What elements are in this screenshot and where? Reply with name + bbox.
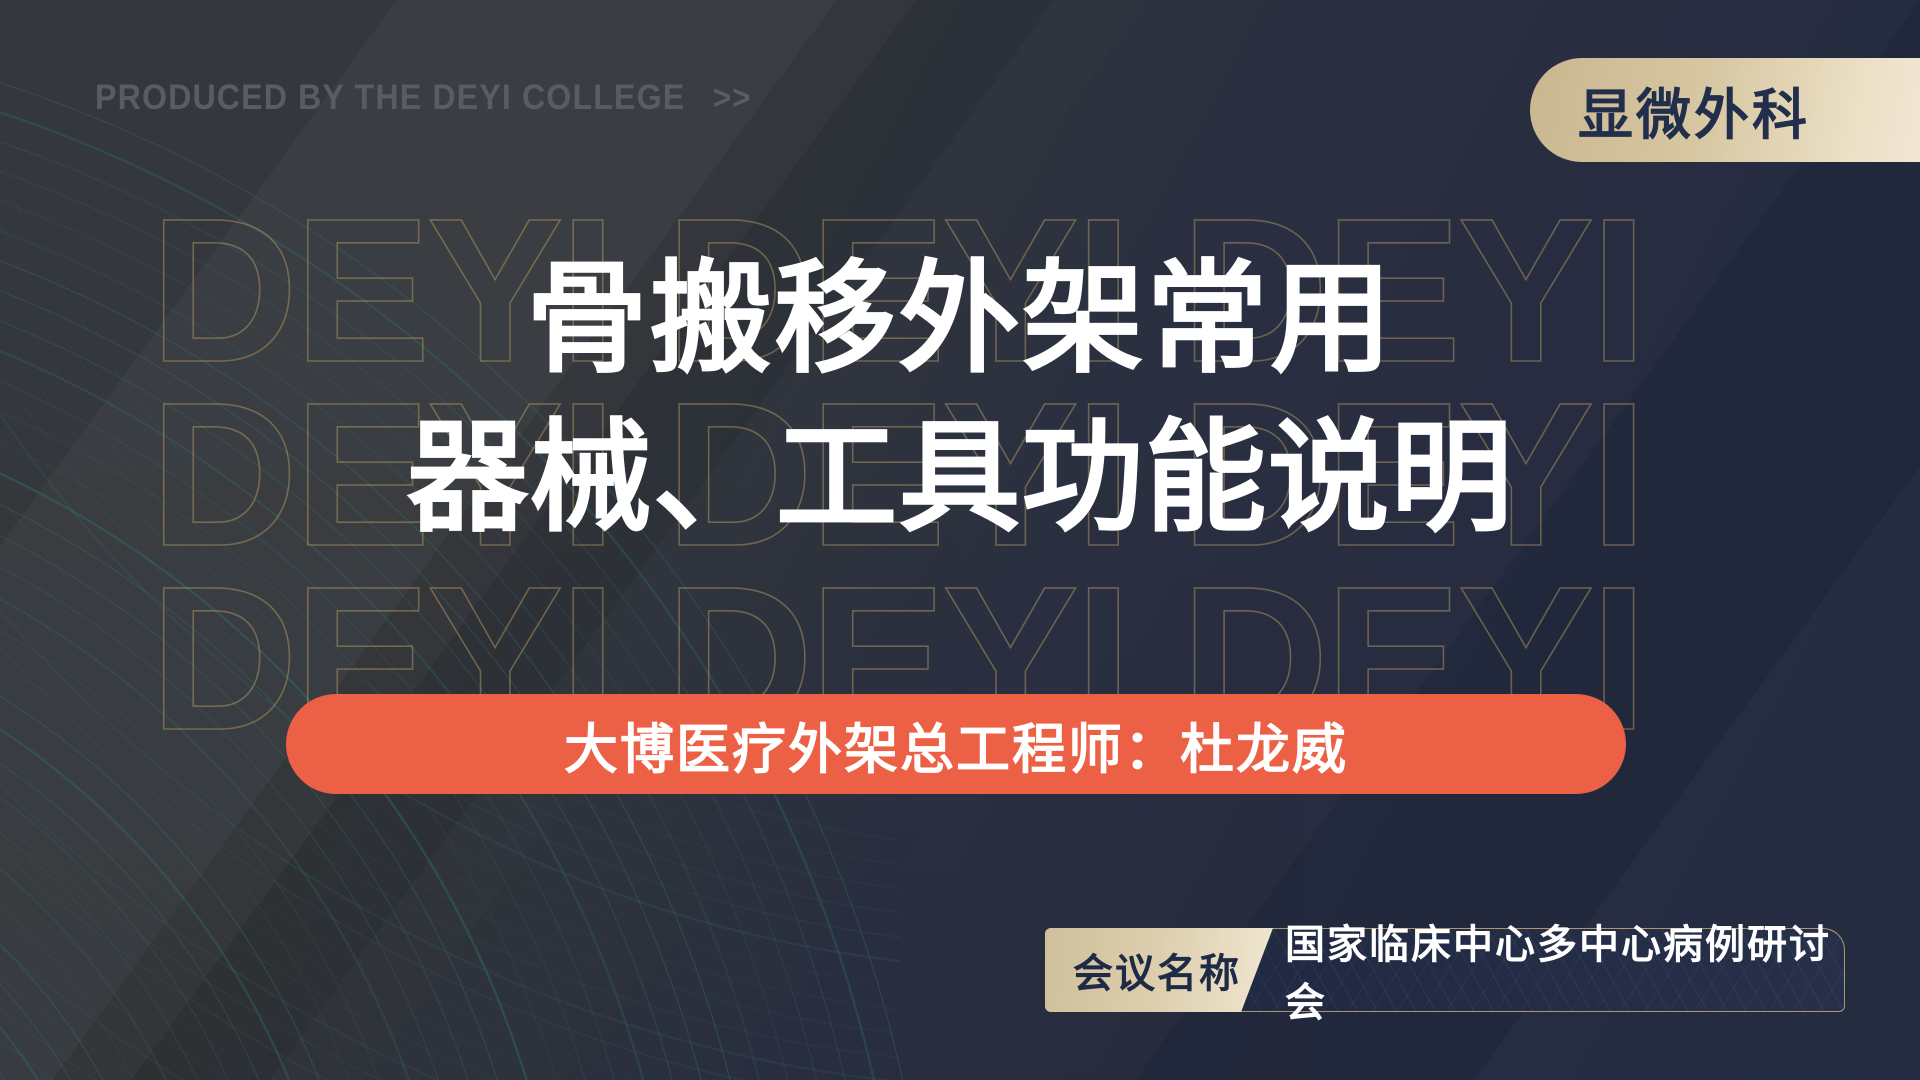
speaker-pill-label: 大博医疗外架总工程师：杜龙威 bbox=[564, 705, 1348, 784]
producer-kicker-text: PRODUCED BY THE DEYI COLLEGE bbox=[95, 78, 685, 118]
speaker-pill: 大博医疗外架总工程师：杜龙威 bbox=[286, 694, 1626, 794]
meeting-ribbon-value-text: 国家临床中心多中心病例研讨会 bbox=[1285, 912, 1845, 1028]
meeting-ribbon-value: 国家临床中心多中心病例研讨会 bbox=[1285, 928, 1845, 1012]
meeting-ribbon-label: 会议名称 bbox=[1045, 928, 1273, 1012]
page-title-line-2: 器械、工具功能说明 bbox=[0, 399, 1920, 558]
slide-canvas: DEYI DEYI DEYI DEYI DEYI DEYI DEYI DEYI … bbox=[0, 0, 1920, 1080]
meeting-ribbon: 会议名称 国家临床中心多中心病例研讨会 bbox=[1045, 928, 1845, 1012]
department-badge-label: 显微外科 bbox=[1578, 70, 1810, 150]
meeting-ribbon-label-text: 会议名称 bbox=[1073, 941, 1241, 999]
producer-kicker: PRODUCED BY THE DEYI COLLEGE >> bbox=[95, 78, 752, 118]
page-title-line-1: 骨搬移外架常用 bbox=[0, 240, 1920, 399]
page-title: 骨搬移外架常用 器械、工具功能说明 bbox=[0, 240, 1920, 557]
chevron-right-icon: >> bbox=[713, 79, 752, 118]
department-badge: 显微外科 bbox=[1530, 58, 1920, 162]
